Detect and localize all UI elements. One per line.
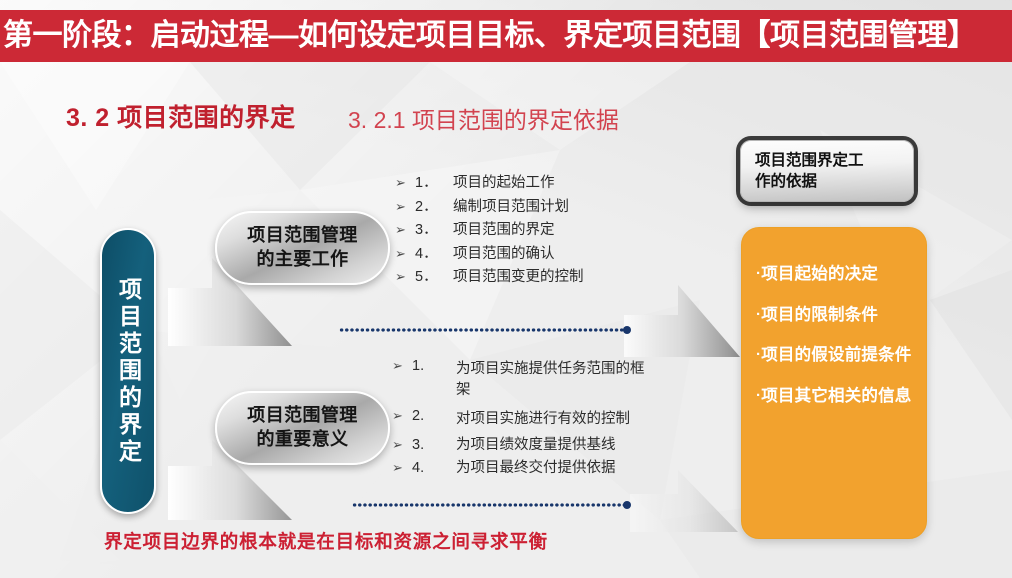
orange-list-item-text: 项目的假设前提条件 bbox=[761, 346, 911, 364]
list-item-number: 3. bbox=[412, 438, 456, 453]
list-item: ➢ 1． 项目的起始工作 bbox=[395, 176, 645, 191]
pill-main-work-label: 项目范围管理 的主要工作 bbox=[247, 224, 357, 272]
list-item-number: 1． bbox=[415, 176, 453, 191]
list-item-number: 2． bbox=[415, 200, 453, 215]
slide-title-text: 第一阶段：启动过程—如何设定项目目标、界定项目范围【项目范围管理】 bbox=[3, 21, 977, 51]
vertical-topic-bar-label: 项目范围的界定 bbox=[117, 277, 140, 466]
list-item-number: 1. bbox=[412, 359, 456, 374]
basis-box[interactable]: 项目范围界定工 作的依据 bbox=[740, 140, 914, 202]
list-item-text: 为项目最终交付提供依据 bbox=[456, 461, 652, 476]
orange-list-item: ·项目的假设前提条件 bbox=[756, 347, 926, 364]
list-item: ➢ 1. 为项目实施提供任务范围的框架 bbox=[392, 359, 652, 401]
list-main-work: ➢ 1． 项目的起始工作 ➢ 2． 编制项目范围计划 ➢ 3． 项目范围的界定 … bbox=[395, 176, 645, 294]
orange-list-item: ·项目其它相关的信息 bbox=[756, 388, 926, 405]
section-subheading: 3. 2.1 项目范围的界定依据 bbox=[348, 101, 619, 135]
orange-list-item-text: 项目起始的决定 bbox=[761, 265, 878, 283]
list-item-text: 项目范围的界定 bbox=[453, 223, 645, 238]
arrow-bullet-icon: ➢ bbox=[395, 176, 415, 190]
dotted-connector-lower-endpoint bbox=[623, 501, 631, 509]
list-item-number: 4. bbox=[412, 461, 456, 476]
list-item: ➢ 2. 对项目实施进行有效的控制 bbox=[392, 409, 652, 430]
list-item-text: 为项目实施提供任务范围的框架 bbox=[456, 359, 652, 401]
orange-list-item-text: 项目其它相关的信息 bbox=[761, 387, 911, 405]
list-item-number: 2. bbox=[412, 409, 456, 424]
slide-canvas: 第一阶段：启动过程—如何设定项目目标、界定项目范围【项目范围管理】 3. 2 项… bbox=[0, 0, 1012, 578]
basis-box-line1: 项目范围界定工 bbox=[755, 152, 864, 169]
list-item: ➢ 3. 为项目绩效度量提供基线 bbox=[392, 438, 652, 453]
list-item-text: 项目的起始工作 bbox=[453, 176, 645, 191]
pill-main-work-line1: 项目范围管理 bbox=[247, 225, 357, 245]
arrow-bullet-icon: ➢ bbox=[392, 359, 412, 373]
list-item: ➢ 4． 项目范围的确认 bbox=[395, 247, 645, 262]
pill-main-work-line2: 的主要工作 bbox=[257, 249, 349, 269]
orange-list-item: ·项目的限制条件 bbox=[756, 307, 926, 324]
list-item-text: 为项目绩效度量提供基线 bbox=[456, 438, 652, 453]
list-item: ➢ 2． 编制项目范围计划 bbox=[395, 200, 645, 215]
basis-box-line2: 作的依据 bbox=[755, 173, 817, 190]
arrow-bullet-icon: ➢ bbox=[395, 200, 415, 214]
vertical-topic-bar: 项目范围的界定 bbox=[100, 228, 156, 514]
list-item-text: 项目范围变更的控制 bbox=[453, 270, 645, 285]
list-item: ➢ 5． 项目范围变更的控制 bbox=[395, 270, 645, 285]
list-significance: ➢ 1. 为项目实施提供任务范围的框架 ➢ 2. 对项目实施进行有效的控制 ➢ … bbox=[392, 359, 652, 483]
pill-significance-line2: 的重要意义 bbox=[257, 429, 349, 449]
arrow-bullet-icon: ➢ bbox=[395, 247, 415, 261]
arrow-bullet-icon: ➢ bbox=[395, 223, 415, 237]
list-item: ➢ 3． 项目范围的界定 bbox=[395, 223, 645, 238]
pill-main-work[interactable]: 项目范围管理 的主要工作 bbox=[215, 211, 390, 285]
list-item-number: 4． bbox=[415, 247, 453, 262]
list-item-number: 3． bbox=[415, 223, 453, 238]
list-item-text: 对项目实施进行有效的控制 bbox=[456, 409, 652, 430]
pill-significance[interactable]: 项目范围管理 的重要意义 bbox=[215, 391, 390, 465]
basis-items-panel: ·项目起始的决定 ·项目的限制条件 ·项目的假设前提条件 ·项目其它相关的信息 bbox=[741, 227, 927, 539]
arrow-bullet-icon: ➢ bbox=[395, 270, 415, 284]
list-item-text: 项目范围的确认 bbox=[453, 247, 645, 262]
dotted-connector-upper-endpoint bbox=[623, 326, 631, 334]
bottom-caption: 界定项目边界的根本就是在目标和资源之间寻求平衡 bbox=[104, 528, 548, 554]
arrow-bullet-icon: ➢ bbox=[392, 461, 412, 475]
pill-significance-line1: 项目范围管理 bbox=[247, 405, 357, 425]
orange-list-item: ·项目起始的决定 bbox=[756, 266, 926, 283]
basis-box-label: 项目范围界定工 作的依据 bbox=[755, 150, 864, 193]
list-item-number: 5． bbox=[415, 270, 453, 285]
orange-list-item-text: 项目的限制条件 bbox=[761, 306, 878, 324]
arrow-bullet-icon: ➢ bbox=[392, 409, 412, 423]
slide-title-band: 第一阶段：启动过程—如何设定项目目标、界定项目范围【项目范围管理】 bbox=[0, 10, 1012, 62]
dotted-connector-upper bbox=[339, 328, 627, 332]
list-item: ➢ 4. 为项目最终交付提供依据 bbox=[392, 461, 652, 476]
arrow-shape-to-orange-panel bbox=[624, 285, 754, 370]
arrow-bullet-icon: ➢ bbox=[392, 438, 412, 452]
section-heading: 3. 2 项目范围的界定 bbox=[66, 98, 296, 134]
list-item-text: 编制项目范围计划 bbox=[453, 200, 645, 215]
dotted-connector-lower bbox=[352, 503, 624, 507]
pill-significance-label: 项目范围管理 的重要意义 bbox=[247, 404, 357, 452]
